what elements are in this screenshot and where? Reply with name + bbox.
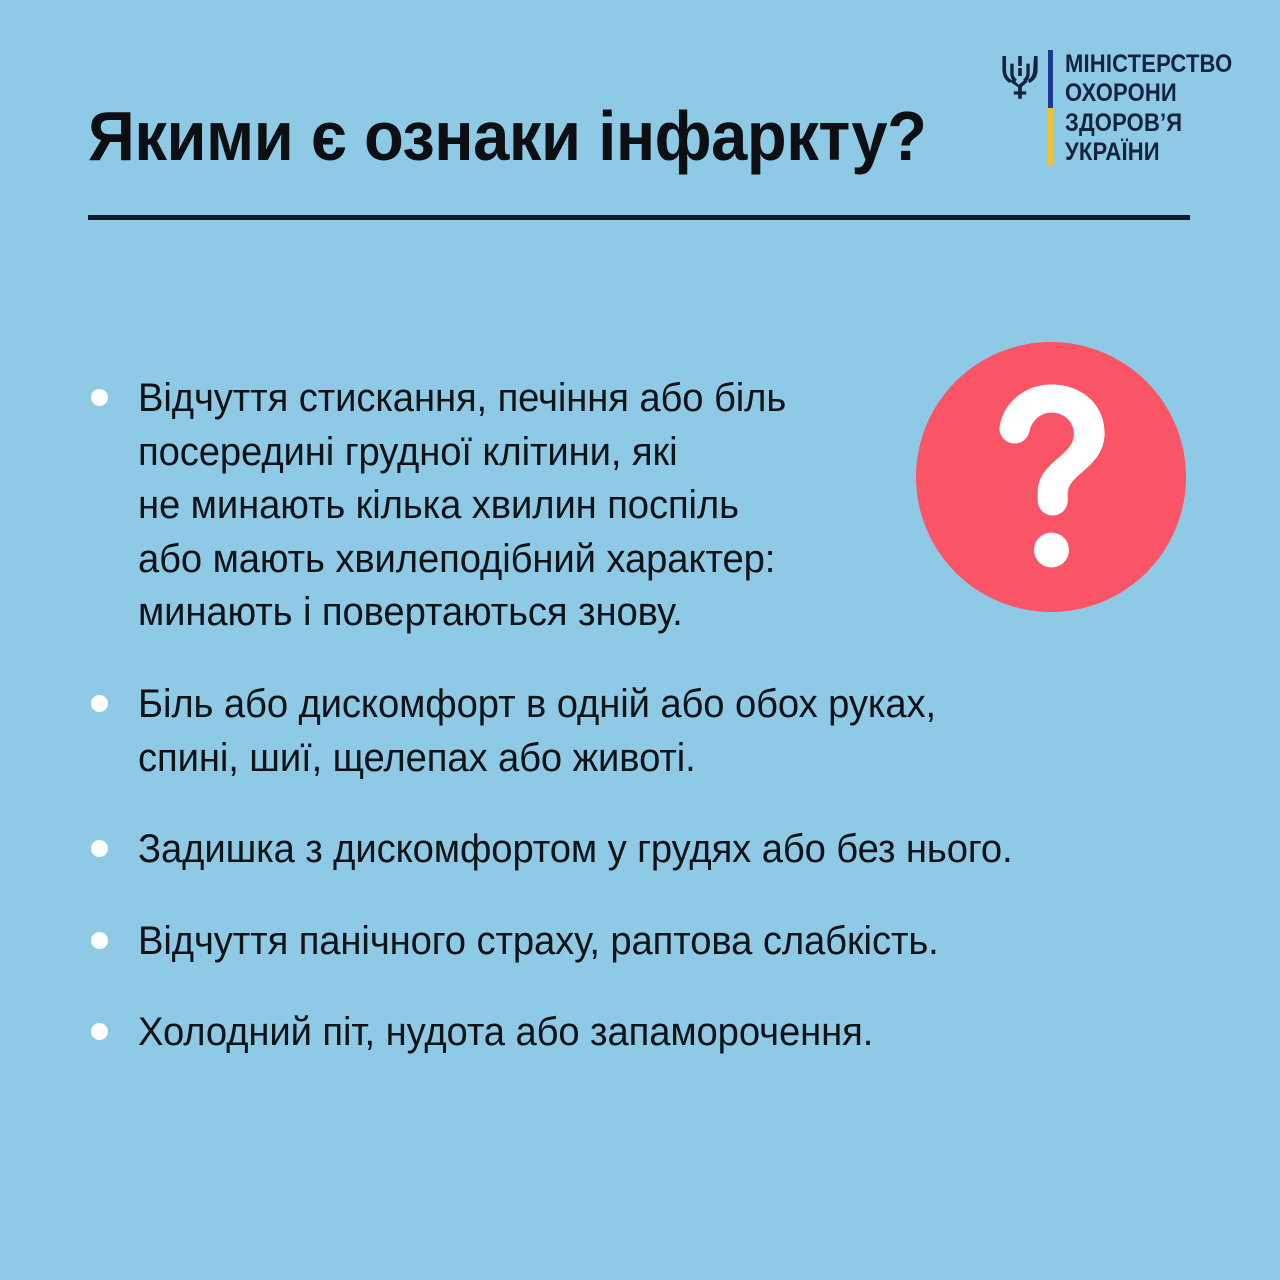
- infographic-poster: Якими є ознаки інфаркту? МІНІСТЕРСТВО ОХ…: [0, 0, 1280, 1280]
- ministry-logo-text: МІНІСТЕРСТВО ОХОРОНИ ЗДОРОВ’Я УКРАЇНИ: [1065, 50, 1232, 167]
- list-item: Відчуття стискання, печіння або біль пос…: [88, 372, 1178, 640]
- logo-divider-bar: [1048, 50, 1053, 166]
- logo-line-3: ЗДОРОВ’Я: [1065, 109, 1232, 138]
- bullet-dot-icon: [91, 1023, 108, 1040]
- logo-line-4: УКРАЇНИ: [1065, 138, 1232, 167]
- list-item-text: Біль або дискомфорт в одній або обох рук…: [138, 678, 1131, 785]
- bullet-dot-icon: [91, 389, 108, 406]
- list-item: Біль або дискомфорт в одній або обох рук…: [88, 678, 1178, 785]
- list-item-text: Відчуття панічного страху, раптова слабк…: [138, 915, 1131, 969]
- list-item: Відчуття панічного страху, раптова слабк…: [88, 915, 1178, 969]
- page-title: Якими є ознаки інфаркту?: [88, 101, 888, 172]
- symptom-list: Відчуття стискання, печіння або біль пос…: [88, 372, 1178, 1060]
- list-item: Задишка з дискомфортом у грудях або без …: [88, 823, 1178, 877]
- logo-line-2: ОХОРОНИ: [1065, 79, 1232, 108]
- list-item-text: Холодний піт, нудота або запаморочення.: [138, 1006, 1131, 1060]
- ukrainian-trident-icon: [1000, 54, 1040, 100]
- bullet-dot-icon: [91, 695, 108, 712]
- header-divider: [88, 215, 1190, 220]
- list-item: Холодний піт, нудота або запаморочення.: [88, 1006, 1178, 1060]
- list-item-text: Задишка з дискомфортом у грудях або без …: [138, 823, 1131, 877]
- ministry-logo: МІНІСТЕРСТВО ОХОРОНИ ЗДОРОВ’Я УКРАЇНИ: [1000, 50, 1255, 170]
- logo-line-1: МІНІСТЕРСТВО: [1065, 50, 1232, 79]
- bullet-dot-icon: [91, 840, 108, 857]
- list-item-text: Відчуття стискання, печіння або біль пос…: [138, 372, 1131, 640]
- bullet-dot-icon: [91, 932, 108, 949]
